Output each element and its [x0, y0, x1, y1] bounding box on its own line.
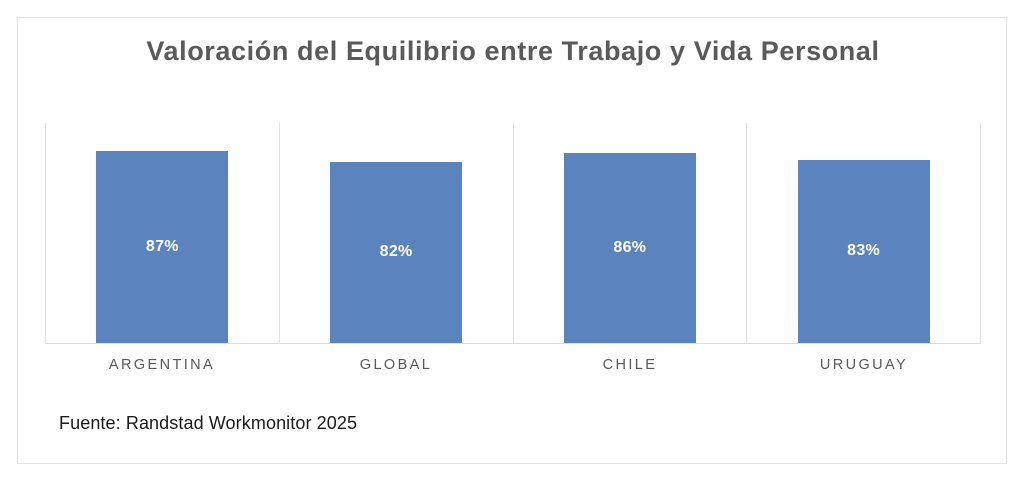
- category-label-global: GLOBAL: [279, 351, 513, 379]
- source-footnote: Fuente: Randstad Workmonitor 2025: [59, 413, 357, 434]
- plot-area: 87% 82% 86% 83%: [45, 123, 981, 344]
- category-label-argentina: ARGENTINA: [45, 351, 279, 379]
- bar-column-uruguay: 83%: [746, 123, 980, 343]
- category-label-uruguay: URUGUAY: [747, 351, 981, 379]
- bar-value-chile: 86%: [613, 239, 646, 257]
- bar-value-global: 82%: [380, 243, 413, 261]
- category-label-chile: CHILE: [513, 351, 747, 379]
- bar-column-chile: 86%: [513, 123, 747, 343]
- bar-column-global: 82%: [279, 123, 513, 343]
- category-axis-labels: ARGENTINA GLOBAL CHILE URUGUAY: [45, 351, 981, 379]
- bar-column-argentina: 87%: [46, 123, 279, 343]
- bar-argentina[interactable]: 87%: [96, 151, 228, 343]
- bar-chile[interactable]: 86%: [564, 153, 696, 343]
- chart-figure: Valoración del Equilibrio entre Trabajo …: [17, 17, 1007, 464]
- bar-global[interactable]: 82%: [330, 162, 462, 343]
- bar-uruguay[interactable]: 83%: [798, 160, 930, 343]
- bar-value-uruguay: 83%: [847, 242, 880, 260]
- chart-title: Valoración del Equilibrio entre Trabajo …: [78, 34, 948, 68]
- bar-value-argentina: 87%: [146, 238, 179, 256]
